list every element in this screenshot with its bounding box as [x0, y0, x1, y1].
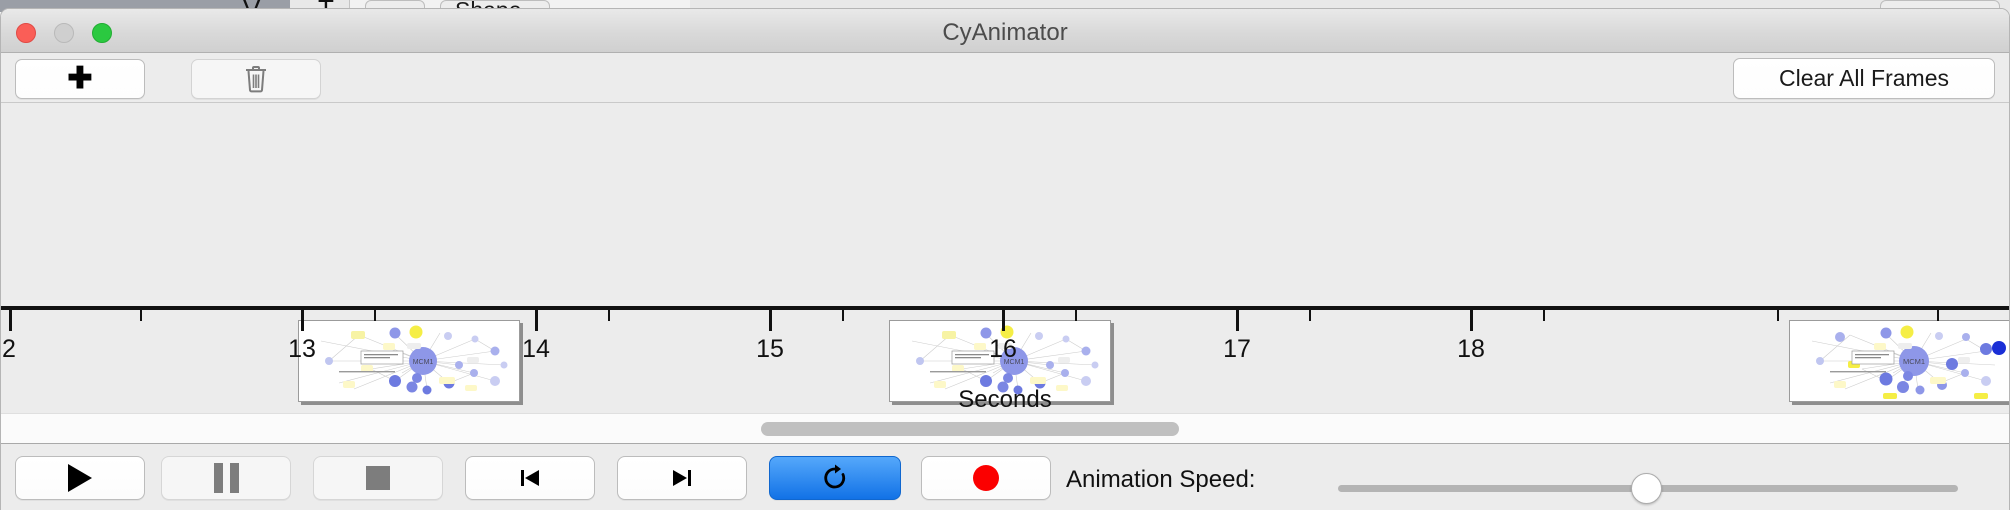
ruler-tick-minor — [374, 310, 376, 321]
window-title: CyAnimator — [1, 19, 2009, 47]
animation-speed-slider-thumb[interactable] — [1631, 473, 1662, 504]
skip-to-end-button[interactable] — [617, 456, 747, 500]
ruler-label: 15 — [756, 335, 784, 364]
ruler-tick-major — [1002, 310, 1005, 331]
clear-all-frames-button[interactable]: Clear All Frames — [1733, 58, 1995, 99]
timeline-axis-title: Seconds — [1, 386, 2009, 413]
ruler-tick-minor — [1543, 310, 1545, 321]
ruler-label: 14 — [522, 335, 550, 364]
delete-frame-button[interactable] — [191, 59, 321, 99]
ruler-label: 16 — [989, 335, 1017, 364]
stop-button[interactable] — [313, 456, 443, 500]
svg-text:MCM1: MCM1 — [413, 359, 434, 366]
plus-icon: ✚ — [67, 64, 92, 94]
ruler-label: 18 — [1457, 335, 1485, 364]
cyanimator-window: CyAnimator ✚ Clear All Frames — [0, 8, 2010, 510]
ruler-tick-minor — [1075, 310, 1077, 321]
ruler-tick-major — [1470, 310, 1473, 331]
record-icon — [973, 465, 999, 491]
animation-speed-label: Animation Speed: — [1066, 466, 1255, 494]
skip-forward-icon — [669, 465, 695, 491]
ruler-label: 13 — [288, 335, 316, 364]
play-button[interactable] — [15, 456, 145, 500]
ruler-tick-minor — [1777, 310, 1779, 321]
ruler-label: 2 — [2, 335, 16, 364]
loop-button[interactable] — [769, 456, 901, 500]
ruler-tick-minor — [1937, 310, 1939, 321]
timeline-panel[interactable]: MCM1 — [1, 103, 2009, 413]
screenshot-root: V T Shape CyAnimator ✚ — [0, 0, 2010, 510]
ruler-tick-major — [1236, 310, 1239, 331]
skip-to-start-button[interactable] — [465, 456, 595, 500]
play-icon — [68, 464, 92, 492]
timeline-horizontal-scrollbar[interactable] — [1, 413, 2009, 443]
ruler-label: 17 — [1223, 335, 1251, 364]
loop-icon — [820, 463, 850, 493]
clear-all-frames-label: Clear All Frames — [1779, 65, 1949, 92]
pause-button[interactable] — [161, 456, 291, 500]
skip-back-icon — [517, 465, 543, 491]
ruler-tick-minor — [140, 310, 142, 321]
ruler-tick-minor — [608, 310, 610, 321]
ruler-tick-major — [769, 310, 772, 331]
svg-text:MCM1: MCM1 — [1903, 357, 1925, 366]
stop-icon — [366, 466, 390, 490]
ruler-tick-minor — [1309, 310, 1311, 321]
ruler-tick-major — [535, 310, 538, 331]
toolbar: ✚ Clear All Frames — [1, 53, 2009, 103]
record-button[interactable] — [921, 456, 1051, 500]
ruler-tick-major — [301, 310, 304, 331]
ruler-tick-major — [9, 310, 12, 331]
pause-icon — [214, 463, 239, 493]
trash-icon — [244, 65, 268, 93]
titlebar: CyAnimator — [1, 9, 2009, 53]
scrollbar-thumb[interactable] — [761, 422, 1179, 436]
transport-bar: Animation Speed: — [1, 443, 2009, 510]
ruler-tick-minor — [842, 310, 844, 321]
add-frame-button[interactable]: ✚ — [15, 59, 145, 99]
